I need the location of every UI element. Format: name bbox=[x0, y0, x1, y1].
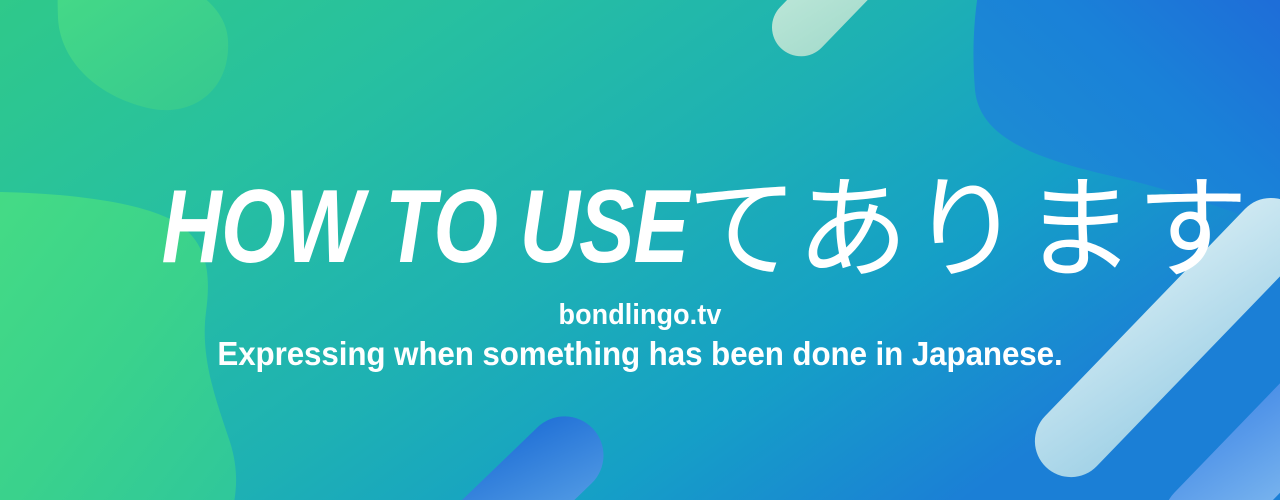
subtitle-block: bondlingo.tv Expressing when something h… bbox=[0, 300, 1280, 373]
headline: HOW TO USEてあります bbox=[0, 168, 1280, 280]
headline-english: HOW TO USE bbox=[162, 175, 689, 279]
brand-name: bondlingo.tv bbox=[45, 300, 1235, 330]
headline-japanese: てあります bbox=[686, 174, 1249, 286]
banner-content: HOW TO USEてあります bondlingo.tv Expressing … bbox=[0, 0, 1280, 500]
promo-banner: HOW TO USEてあります bondlingo.tv Expressing … bbox=[0, 0, 1280, 500]
tagline: Expressing when something has been done … bbox=[32, 335, 1248, 373]
